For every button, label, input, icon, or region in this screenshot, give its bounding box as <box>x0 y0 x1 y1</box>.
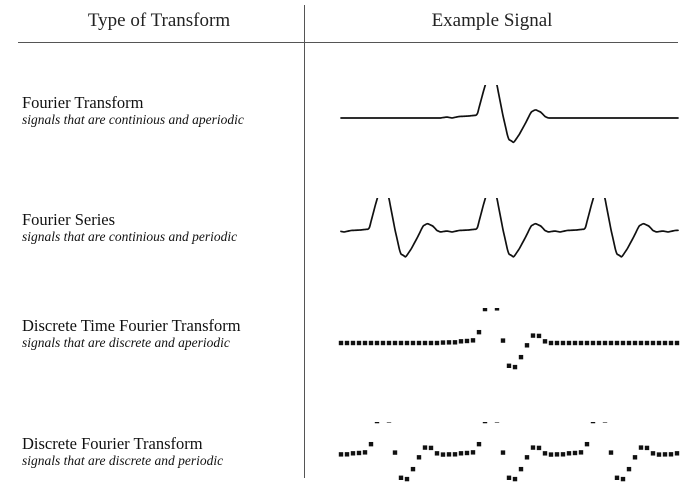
waveform-sample-dot <box>549 341 553 345</box>
row-title: Discrete Time Fourier Transform <box>22 316 297 335</box>
waveform-sample-dot <box>375 341 379 345</box>
signal-trace <box>339 308 679 369</box>
signal-svg <box>330 422 691 493</box>
waveform-sample-dot <box>615 341 619 345</box>
waveform-sample-dot <box>591 341 595 345</box>
waveform-sample-dot <box>429 446 433 450</box>
waveform-sample-dot <box>405 477 409 481</box>
waveform-sample-dot <box>459 339 463 343</box>
waveform-sample-dot <box>675 451 679 455</box>
waveform-sample-dot <box>651 451 655 455</box>
waveform-sample-dot <box>345 452 349 456</box>
signal-trace <box>341 198 678 257</box>
waveform-sample-dot <box>537 334 541 338</box>
waveform-sample-dot <box>567 341 571 345</box>
waveform-sample-dot <box>525 343 529 347</box>
waveform-sample-dot <box>363 341 367 345</box>
waveform-sample-dot <box>453 452 457 456</box>
waveform-sample-dot <box>369 442 373 446</box>
waveform-sample-dot <box>363 450 367 454</box>
waveform-sample-dot <box>669 452 673 456</box>
waveform-sample-dot <box>573 341 577 345</box>
waveform-sample-dot <box>393 341 397 345</box>
waveform-sample-dot <box>351 451 355 455</box>
waveform-sample-dot <box>633 455 637 459</box>
waveform-sample-dot <box>567 451 571 455</box>
row-label-fourier-series: Fourier Series signals that are continio… <box>22 210 297 245</box>
waveform-sample-dot <box>651 341 655 345</box>
waveform-sample-dot <box>561 452 565 456</box>
column-header-example-signal: Example Signal <box>306 8 678 34</box>
waveform-sample-dot <box>543 339 547 343</box>
row-label-discrete-fourier-transform: Discrete Fourier Transform signals that … <box>22 434 297 469</box>
waveform-sample-dot <box>447 340 451 344</box>
signal-svg <box>330 198 691 298</box>
waveform-sample-dot <box>381 341 385 345</box>
signal-plot-discrete-time-fourier-transform <box>330 308 691 408</box>
waveform-sample-dot <box>525 455 529 459</box>
waveform-sample-dot <box>663 341 667 345</box>
waveform-sample-dot <box>639 341 643 345</box>
waveform-sample-dot <box>603 341 607 345</box>
waveform-sample-dot <box>405 341 409 345</box>
row-subtitle: signals that are discrete and aperiodic <box>22 335 297 351</box>
row-label-fourier-transform: Fourier Transform signals that are conti… <box>22 93 297 128</box>
figure-root: Type of Transform Example Signal Fourier… <box>0 0 691 493</box>
column-header-type-of-transform: Type of Transform <box>18 8 300 34</box>
signal-svg <box>330 308 691 408</box>
waveform-sample-dot <box>441 340 445 344</box>
waveform-sample-dot <box>615 476 619 480</box>
row-subtitle: signals that are discrete and periodic <box>22 453 297 469</box>
waveform-sample-dot <box>507 364 511 368</box>
waveform-sample-dot <box>423 445 427 449</box>
waveform-path <box>341 198 678 257</box>
waveform-sample-dot <box>441 452 445 456</box>
waveform-sample-dot <box>555 341 559 345</box>
waveform-sample-dot <box>627 341 631 345</box>
waveform-sample-dot <box>465 451 469 455</box>
waveform-sample-dot <box>411 467 415 471</box>
waveform-sample-dot <box>633 341 637 345</box>
waveform-sample-dot <box>519 355 523 359</box>
waveform-sample-dot <box>645 341 649 345</box>
waveform-sample-dot <box>549 452 553 456</box>
row-title: Fourier Transform <box>22 93 297 112</box>
waveform-sample-dot <box>579 450 583 454</box>
waveform-sample-dot <box>477 442 481 446</box>
row-title: Discrete Fourier Transform <box>22 434 297 453</box>
waveform-sample-dot <box>531 333 535 337</box>
waveform-sample-dot <box>447 452 451 456</box>
waveform-sample-dot <box>375 422 379 423</box>
waveform-sample-dot <box>603 422 607 423</box>
waveform-sample-dot <box>507 476 511 480</box>
waveform-sample-dot <box>339 452 343 456</box>
waveform-sample-dot <box>453 340 457 344</box>
waveform-sample-dot <box>585 341 589 345</box>
waveform-sample-dot <box>339 341 343 345</box>
waveform-sample-dot <box>627 467 631 471</box>
waveform-sample-dot <box>399 341 403 345</box>
waveform-sample-dot <box>357 451 361 455</box>
waveform-sample-dot <box>609 450 613 454</box>
row-title: Fourier Series <box>22 210 297 229</box>
row-subtitle: signals that are continious and aperiodi… <box>22 112 297 128</box>
waveform-sample-dot <box>663 452 667 456</box>
waveform-sample-dot <box>513 365 517 369</box>
waveform-sample-dot <box>471 338 475 342</box>
waveform-path <box>341 85 678 142</box>
waveform-sample-dot <box>417 455 421 459</box>
waveform-sample-dot <box>513 477 517 481</box>
waveform-sample-dot <box>423 341 427 345</box>
signal-plot-fourier-series <box>330 198 691 298</box>
waveform-sample-dot <box>573 451 577 455</box>
waveform-sample-dot <box>639 445 643 449</box>
waveform-sample-dot <box>411 341 415 345</box>
waveform-sample-dot <box>483 308 487 311</box>
waveform-sample-dot <box>501 450 505 454</box>
waveform-sample-dot <box>459 451 463 455</box>
waveform-sample-dot <box>555 452 559 456</box>
waveform-sample-dot <box>585 442 589 446</box>
row-label-discrete-time-fourier-transform: Discrete Time Fourier Transform signals … <box>22 316 297 351</box>
waveform-sample-dot <box>369 341 373 345</box>
signal-plot-discrete-fourier-transform <box>330 422 691 493</box>
waveform-sample-dot <box>495 422 499 423</box>
waveform-sample-dot <box>429 341 433 345</box>
waveform-sample-dot <box>561 341 565 345</box>
signal-trace <box>339 422 679 481</box>
waveform-sample-dot <box>675 341 679 345</box>
waveform-sample-dot <box>543 451 547 455</box>
waveform-sample-dot <box>345 341 349 345</box>
waveform-sample-dot <box>393 450 397 454</box>
waveform-sample-dot <box>531 445 535 449</box>
column-divider-vertical <box>304 5 305 478</box>
waveform-sample-dot <box>609 341 613 345</box>
signal-svg <box>330 85 691 185</box>
waveform-sample-dot <box>657 452 661 456</box>
waveform-sample-dot <box>579 341 583 345</box>
waveform-sample-dot <box>495 308 499 311</box>
waveform-sample-dot <box>399 476 403 480</box>
signal-plot-fourier-transform <box>330 85 691 185</box>
waveform-sample-dot <box>597 341 601 345</box>
waveform-sample-dot <box>621 477 625 481</box>
waveform-sample-dot <box>417 341 421 345</box>
waveform-sample-dot <box>387 422 391 423</box>
signal-trace <box>341 85 678 142</box>
waveform-sample-dot <box>357 341 361 345</box>
waveform-sample-dot <box>465 339 469 343</box>
header-divider-horizontal <box>18 42 678 43</box>
waveform-sample-dot <box>657 341 661 345</box>
waveform-sample-dot <box>501 338 505 342</box>
row-subtitle: signals that are continious and periodic <box>22 229 297 245</box>
waveform-sample-dot <box>537 446 541 450</box>
waveform-sample-dot <box>621 341 625 345</box>
waveform-sample-dot <box>477 330 481 334</box>
waveform-sample-dot <box>483 422 487 423</box>
waveform-sample-dot <box>435 451 439 455</box>
waveform-sample-dot <box>669 341 673 345</box>
waveform-sample-dot <box>591 422 595 423</box>
waveform-sample-dot <box>435 341 439 345</box>
waveform-sample-dot <box>387 341 391 345</box>
waveform-sample-dot <box>645 446 649 450</box>
waveform-sample-dot <box>471 450 475 454</box>
waveform-sample-dot <box>351 341 355 345</box>
waveform-sample-dot <box>519 467 523 471</box>
